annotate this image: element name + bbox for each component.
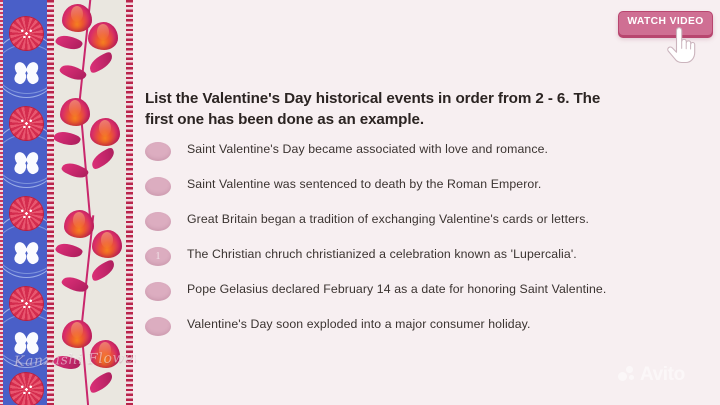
rosette-icon bbox=[9, 16, 44, 51]
white-flower-icon bbox=[15, 62, 39, 84]
cream-floral-panel bbox=[54, 0, 126, 405]
rosette-icon bbox=[9, 286, 44, 321]
white-flower-icon bbox=[15, 152, 39, 174]
order-number bbox=[145, 142, 171, 161]
list-item-label: Valentine's Day soon exploded into a maj… bbox=[187, 313, 531, 336]
list-item[interactable]: Great Britain began a tradition of excha… bbox=[145, 208, 705, 243]
rosette-icon bbox=[9, 372, 44, 405]
bloom-icon bbox=[62, 4, 92, 32]
rosette-icon bbox=[9, 196, 44, 231]
list-item-label: Great Britain began a tradition of excha… bbox=[187, 208, 589, 231]
bloom-icon bbox=[62, 320, 92, 348]
page-title: List the Valentine's Day historical even… bbox=[145, 88, 615, 130]
list-item[interactable]: 1 The Christian chruch christianized a c… bbox=[145, 243, 705, 278]
avito-dots-icon bbox=[618, 365, 637, 384]
avito-wordmark: Avito bbox=[640, 365, 685, 384]
bloom-icon bbox=[60, 98, 90, 126]
order-number bbox=[145, 212, 171, 231]
rosette-icon bbox=[9, 106, 44, 141]
bloom-icon bbox=[90, 118, 120, 146]
bloom-icon bbox=[64, 210, 94, 238]
list-item[interactable]: Saint Valentine's Day became associated … bbox=[145, 138, 705, 173]
bloom-icon bbox=[92, 230, 122, 258]
list-item[interactable]: Saint Valentine was sentenced to death b… bbox=[145, 173, 705, 208]
blue-floral-panel bbox=[3, 0, 48, 405]
list-item-label: Saint Valentine's Day became associated … bbox=[187, 138, 548, 161]
avito-watermark: Avito bbox=[618, 365, 685, 384]
watch-video-label: WATCH VIDEO bbox=[619, 12, 712, 32]
floral-border: Kanzashi Flower bbox=[0, 0, 136, 405]
order-number bbox=[145, 177, 171, 196]
border-dashed-band bbox=[47, 0, 54, 405]
order-number bbox=[145, 282, 171, 301]
border-dashed-band bbox=[126, 0, 133, 405]
list-item[interactable]: Valentine's Day soon exploded into a maj… bbox=[145, 313, 705, 348]
white-flower-icon bbox=[15, 242, 39, 264]
order-number bbox=[145, 317, 171, 336]
bloom-icon bbox=[90, 340, 120, 368]
screenshot-root: Kanzashi Flower List the Valentine's Day… bbox=[0, 0, 720, 405]
list-item-label: The Christian chruch christianized a cel… bbox=[187, 243, 577, 266]
events-list: Saint Valentine's Day became associated … bbox=[145, 138, 705, 348]
order-number: 1 bbox=[145, 247, 171, 266]
list-item-label: Pope Gelasius declared February 14 as a … bbox=[187, 278, 606, 301]
white-flower-icon bbox=[15, 332, 39, 354]
list-item-label: Saint Valentine was sentenced to death b… bbox=[187, 173, 541, 196]
list-item[interactable]: Pope Gelasius declared February 14 as a … bbox=[145, 278, 705, 313]
content-area: List the Valentine's Day historical even… bbox=[136, 0, 720, 405]
bloom-icon bbox=[88, 22, 118, 50]
watch-video-button[interactable]: WATCH VIDEO bbox=[618, 11, 713, 36]
